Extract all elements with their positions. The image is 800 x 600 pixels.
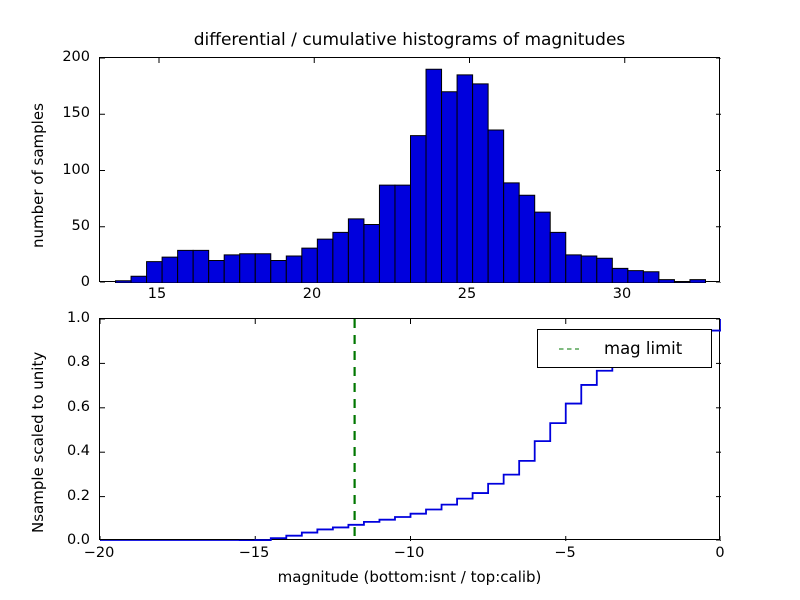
bottom-panel-xlabel: magnitude (bottom:isnt / top:calib) bbox=[99, 568, 720, 586]
histogram-bar bbox=[504, 183, 520, 283]
figure-canvas: differential / cumulative histograms of … bbox=[0, 0, 800, 600]
histogram-bar bbox=[628, 271, 644, 283]
histogram-bar bbox=[317, 239, 333, 283]
bottom-xtick-minus10: −10 bbox=[394, 545, 425, 561]
histogram-bar bbox=[442, 92, 458, 283]
histogram-bar bbox=[348, 219, 364, 283]
top-ytick-200: 200 bbox=[42, 49, 90, 65]
histogram-bar bbox=[519, 195, 535, 283]
histogram-bar bbox=[333, 232, 349, 283]
histogram-bar bbox=[193, 250, 209, 283]
histogram-bar bbox=[209, 261, 225, 284]
top-ytick-150: 150 bbox=[42, 105, 90, 121]
top-xtick-25: 25 bbox=[458, 286, 476, 302]
bottom-xtick-minus5: −5 bbox=[554, 545, 575, 561]
histogram-bar bbox=[116, 281, 132, 283]
legend-entry-mag-limit: mag limit bbox=[548, 339, 682, 358]
histogram-bar bbox=[535, 212, 551, 283]
bottom-ytick-0.0: 0.0 bbox=[38, 532, 90, 548]
histogram-bar bbox=[178, 250, 194, 283]
histogram-bar bbox=[395, 185, 411, 283]
histogram-bar bbox=[271, 261, 287, 284]
histogram-bar bbox=[674, 282, 690, 283]
bottom-xtick-minus20: −20 bbox=[84, 545, 115, 561]
histogram-bar bbox=[240, 254, 256, 283]
chart-title: differential / cumulative histograms of … bbox=[99, 30, 720, 50]
histogram-bar bbox=[550, 232, 566, 283]
top-xtick-15: 15 bbox=[148, 286, 166, 302]
top-histogram-plot bbox=[100, 58, 721, 283]
histogram-bar bbox=[255, 254, 271, 283]
mag-limit-dashed-line-icon bbox=[548, 348, 590, 350]
top-ytick-100: 100 bbox=[42, 162, 90, 178]
top-histogram-axes bbox=[99, 57, 720, 282]
histogram-bar bbox=[581, 256, 597, 283]
legend-label-mag-limit: mag limit bbox=[604, 339, 682, 358]
histogram-bar bbox=[643, 272, 659, 283]
histogram-bar bbox=[364, 225, 380, 284]
histogram-bar bbox=[162, 257, 178, 283]
histogram-bar bbox=[426, 69, 442, 283]
histogram-bar bbox=[411, 136, 427, 283]
histogram-bar bbox=[379, 185, 395, 283]
bottom-xtick-minus15: −15 bbox=[239, 545, 270, 561]
bottom-ytick-0.8: 0.8 bbox=[38, 354, 90, 370]
legend: mag limit bbox=[537, 329, 712, 368]
histogram-bar bbox=[457, 75, 473, 283]
bottom-xtick-0: 0 bbox=[715, 545, 724, 561]
histogram-bar bbox=[566, 255, 582, 283]
histogram-bar bbox=[473, 84, 489, 283]
bottom-ytick-0.4: 0.4 bbox=[38, 443, 90, 459]
bottom-ytick-0.2: 0.2 bbox=[38, 488, 90, 504]
top-xtick-20: 20 bbox=[303, 286, 321, 302]
histogram-bar bbox=[224, 255, 240, 283]
histogram-bar bbox=[147, 262, 163, 283]
top-ytick-0: 0 bbox=[42, 274, 90, 290]
top-ytick-50: 50 bbox=[42, 218, 90, 234]
bottom-ytick-0.6: 0.6 bbox=[38, 399, 90, 415]
histogram-bar bbox=[597, 258, 613, 283]
top-xtick-30: 30 bbox=[613, 286, 631, 302]
histogram-bar bbox=[286, 256, 302, 283]
histogram-bar bbox=[131, 276, 147, 283]
histogram-bar bbox=[302, 248, 318, 283]
bottom-ytick-1.0: 1.0 bbox=[38, 310, 90, 326]
histogram-bar bbox=[690, 280, 706, 283]
histogram-bar bbox=[488, 130, 504, 283]
histogram-bar bbox=[612, 268, 628, 283]
histogram-bar bbox=[659, 280, 675, 283]
